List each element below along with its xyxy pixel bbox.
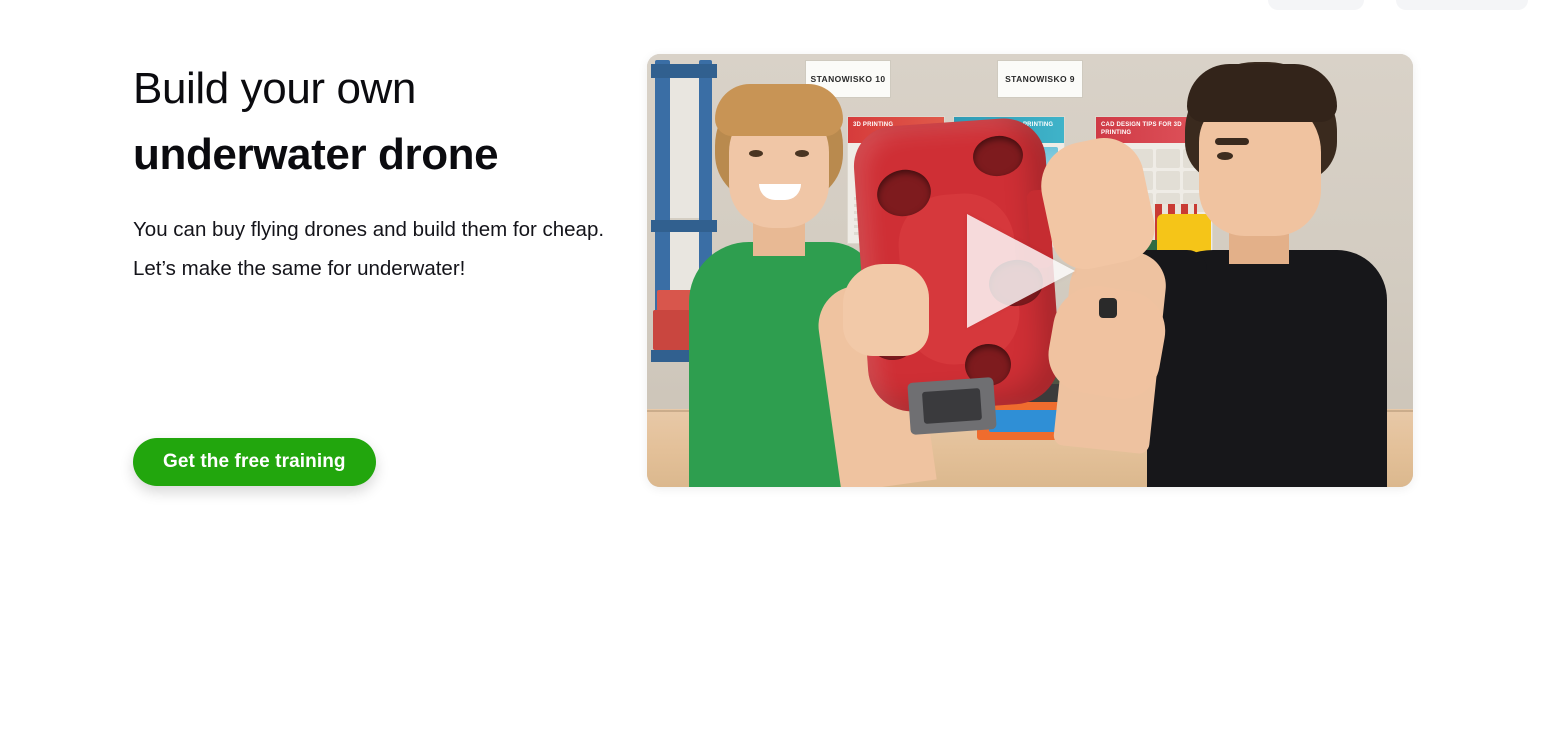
page-title: Build your own underwater drone (133, 56, 625, 188)
get-free-training-button[interactable]: Get the free training (133, 438, 376, 486)
shelf-beam-top (651, 64, 717, 78)
headline-line-2: underwater drone (133, 122, 625, 188)
drone-camera-lens (922, 388, 982, 424)
shelf-beam-mid (651, 220, 717, 232)
wall-sign-stanowisko-9: STANOWISKO 9 (997, 60, 1083, 98)
as-featured-on-strip: AS FEATURED ON: All3DP (0, 596, 1561, 666)
play-button[interactable] (967, 214, 1093, 328)
hero-video-player[interactable]: 3D PRINTING PREPARING FOR 3D PRINTING CA… (647, 54, 1413, 487)
person-right-eyebrow (1215, 138, 1249, 145)
person-left-eye-right (795, 150, 809, 157)
hero-subcopy: You can buy flying drones and build them… (133, 210, 625, 288)
person-right-fringe (1187, 64, 1337, 122)
person-left-fringe (715, 84, 843, 136)
person-left-eye-left (749, 150, 763, 157)
header-chip-2[interactable] (1396, 0, 1528, 10)
landing-page: Build your own underwater drone You can … (0, 0, 1561, 733)
person-right-ring (1099, 298, 1117, 318)
poster-icon-cell (1156, 149, 1180, 168)
partial-header-bar (0, 0, 1561, 10)
person-left-hand (843, 264, 929, 356)
poster-icon-cell (1156, 171, 1180, 190)
person-right-eye (1217, 152, 1233, 160)
hero-text-block: Build your own underwater drone You can … (133, 56, 625, 288)
play-triangle-icon (967, 214, 1075, 328)
headline-line-1: Build your own (133, 64, 416, 113)
header-chip-1[interactable] (1268, 0, 1364, 10)
cta-container: Get the free training (133, 438, 376, 486)
